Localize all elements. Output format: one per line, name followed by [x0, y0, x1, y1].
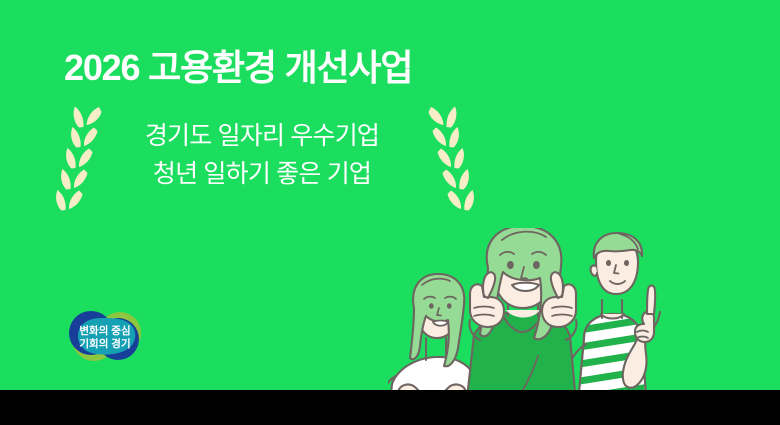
logo-slogan-line-1: 변화의 중심	[79, 324, 130, 337]
banner-stage: 2026 고용환경 개선사업 경기도 일자리 우수기업 청년 일하기 좋은 기업…	[0, 0, 780, 390]
subtitle-block: 경기도 일자리 우수기업 청년 일하기 좋은 기업	[104, 117, 420, 193]
logo-slogan-line-2: 기회의 경기	[79, 337, 130, 350]
page-title: 2026 고용환경 개선사업	[64, 47, 412, 88]
subtitle-line-2: 청년 일하기 좋은 기업	[104, 155, 420, 193]
subtitle-line-1: 경기도 일자리 우수기업	[104, 117, 420, 155]
people-illustration	[388, 228, 780, 390]
gyeonggi-logo[interactable]: 변화의 중심 기회의 경기	[60, 306, 156, 366]
promo-banner: 2026 고용환경 개선사업 경기도 일자리 우수기업 청년 일하기 좋은 기업…	[0, 0, 780, 425]
figure-woman-thumbs-up	[464, 228, 578, 390]
bottom-bar	[0, 390, 780, 425]
